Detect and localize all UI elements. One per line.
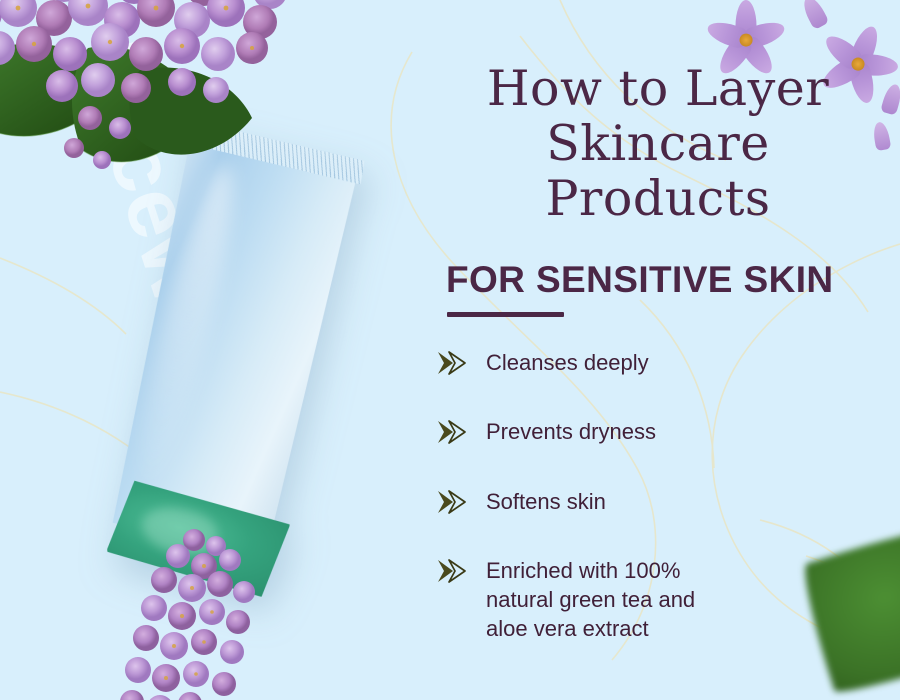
- lilac-cluster-bottom-left: [120, 528, 320, 700]
- benefit-line: natural green tea and: [486, 586, 695, 615]
- list-item-text: Prevents dryness: [472, 417, 656, 447]
- list-item: Enriched with 100% natural green tea and…: [436, 556, 890, 643]
- list-item-text: Softens skin: [472, 487, 606, 517]
- benefit-line: Softens skin: [486, 488, 606, 517]
- benefit-line: Cleanses deeply: [486, 349, 649, 378]
- list-item: Cleanses deeply: [436, 348, 890, 378]
- list-item: Softens skin: [436, 487, 890, 517]
- subheading-underline: [447, 312, 564, 317]
- copy-block: How to Layer Skincare Products FOR SENSI…: [430, 62, 890, 643]
- headline-line-2: Skincare Products: [430, 117, 886, 227]
- lilac-cluster-top-left: [0, 0, 300, 212]
- page-title: How to Layer Skincare Products: [430, 62, 890, 227]
- flower-center: [740, 34, 753, 47]
- double-chevron-icon: [436, 489, 472, 515]
- double-chevron-icon: [436, 558, 472, 584]
- benefits-list: Cleanses deeply Prevents dryness: [430, 348, 890, 644]
- benefit-line: Prevents dryness: [486, 418, 656, 447]
- list-item: Prevents dryness: [436, 417, 890, 447]
- subheading: FOR SENSITIVE SKIN: [430, 259, 890, 301]
- double-chevron-icon: [436, 350, 472, 376]
- poster-canvas: Facewash: [0, 0, 900, 700]
- list-item-text: Cleanses deeply: [472, 348, 649, 378]
- benefit-line: Enriched with 100%: [486, 557, 695, 586]
- headline-line-1: How to Layer: [430, 62, 886, 117]
- benefit-line: aloe vera extract: [486, 615, 695, 644]
- double-chevron-icon: [436, 419, 472, 445]
- list-item-text: Enriched with 100% natural green tea and…: [472, 556, 695, 643]
